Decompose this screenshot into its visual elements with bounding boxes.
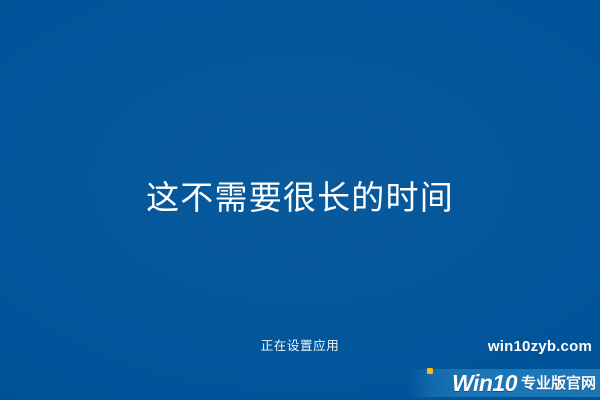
watermark-url-text: win10zyb.com xyxy=(488,338,592,356)
site-watermark: win10zyb.com Win10 专业版官网 xyxy=(400,334,600,400)
setup-heading: 这不需要很长的时间 xyxy=(146,178,454,218)
oobe-setup-screen: 这不需要很长的时间 正在设置应用 win10zyb.com Win10 专业版官… xyxy=(0,0,600,400)
heading-container: 这不需要很长的时间 xyxy=(0,178,600,218)
logo-dot-icon xyxy=(427,368,433,374)
watermark-logo-brand: Win10 xyxy=(452,370,517,396)
setup-status-text: 正在设置应用 xyxy=(261,338,340,354)
watermark-logo-plate: Win10 专业版官网 xyxy=(408,369,600,397)
watermark-logo-suffix: 专业版官网 xyxy=(521,373,596,393)
